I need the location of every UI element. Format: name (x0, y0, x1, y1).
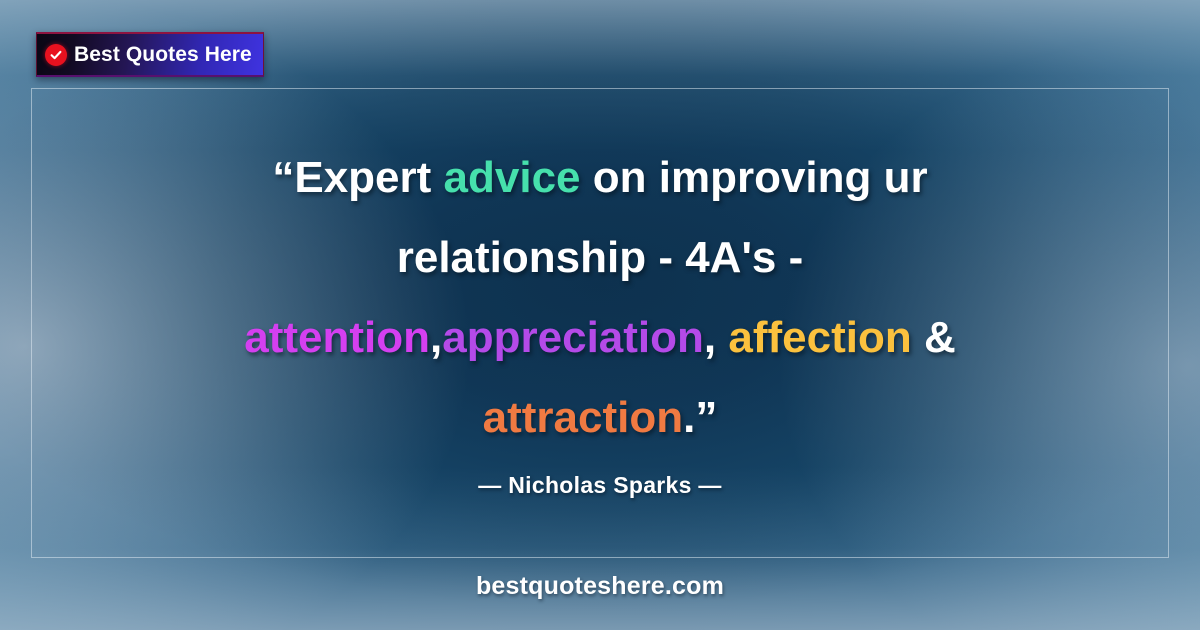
quote-line-4-segment-1: attraction (483, 393, 683, 442)
quote-author: — Nicholas Sparks — (0, 472, 1200, 499)
quote-text-block: “Expert advice on improving ur relations… (0, 138, 1200, 458)
quote-line-2: relationship - 4A's - (70, 218, 1130, 298)
check-circle-icon (45, 44, 67, 66)
quote-line-1-segment-1: “Expert (272, 153, 443, 202)
quote-line-4: attraction.” (70, 378, 1130, 458)
brand-badge[interactable]: Best Quotes Here (36, 32, 264, 77)
website-footer: bestquoteshere.com (0, 572, 1200, 601)
quote-line-3-segment-3: appreciation (442, 313, 704, 362)
quote-line-1-segment-3: on improving ur (581, 153, 928, 202)
quote-line-3-segment-2: , (430, 313, 442, 362)
quote-line-3-segment-1: attention (244, 313, 430, 362)
quote-line-3-segment-6: & (912, 313, 956, 362)
quote-line-1: “Expert advice on improving ur (70, 138, 1130, 218)
quote-card: Best Quotes Here “Expert advice on impro… (0, 0, 1200, 630)
quote-line-1-segment-2: advice (444, 153, 581, 202)
quote-line-3: attention,appreciation, affection & (70, 298, 1130, 378)
brand-badge-label: Best Quotes Here (74, 43, 252, 67)
quote-line-4-segment-2: .” (683, 393, 717, 442)
quote-line-3-segment-4: , (704, 313, 728, 362)
quote-line-2-segment-1: relationship - 4A's - (397, 233, 804, 282)
quote-line-3-segment-5: affection (728, 313, 911, 362)
